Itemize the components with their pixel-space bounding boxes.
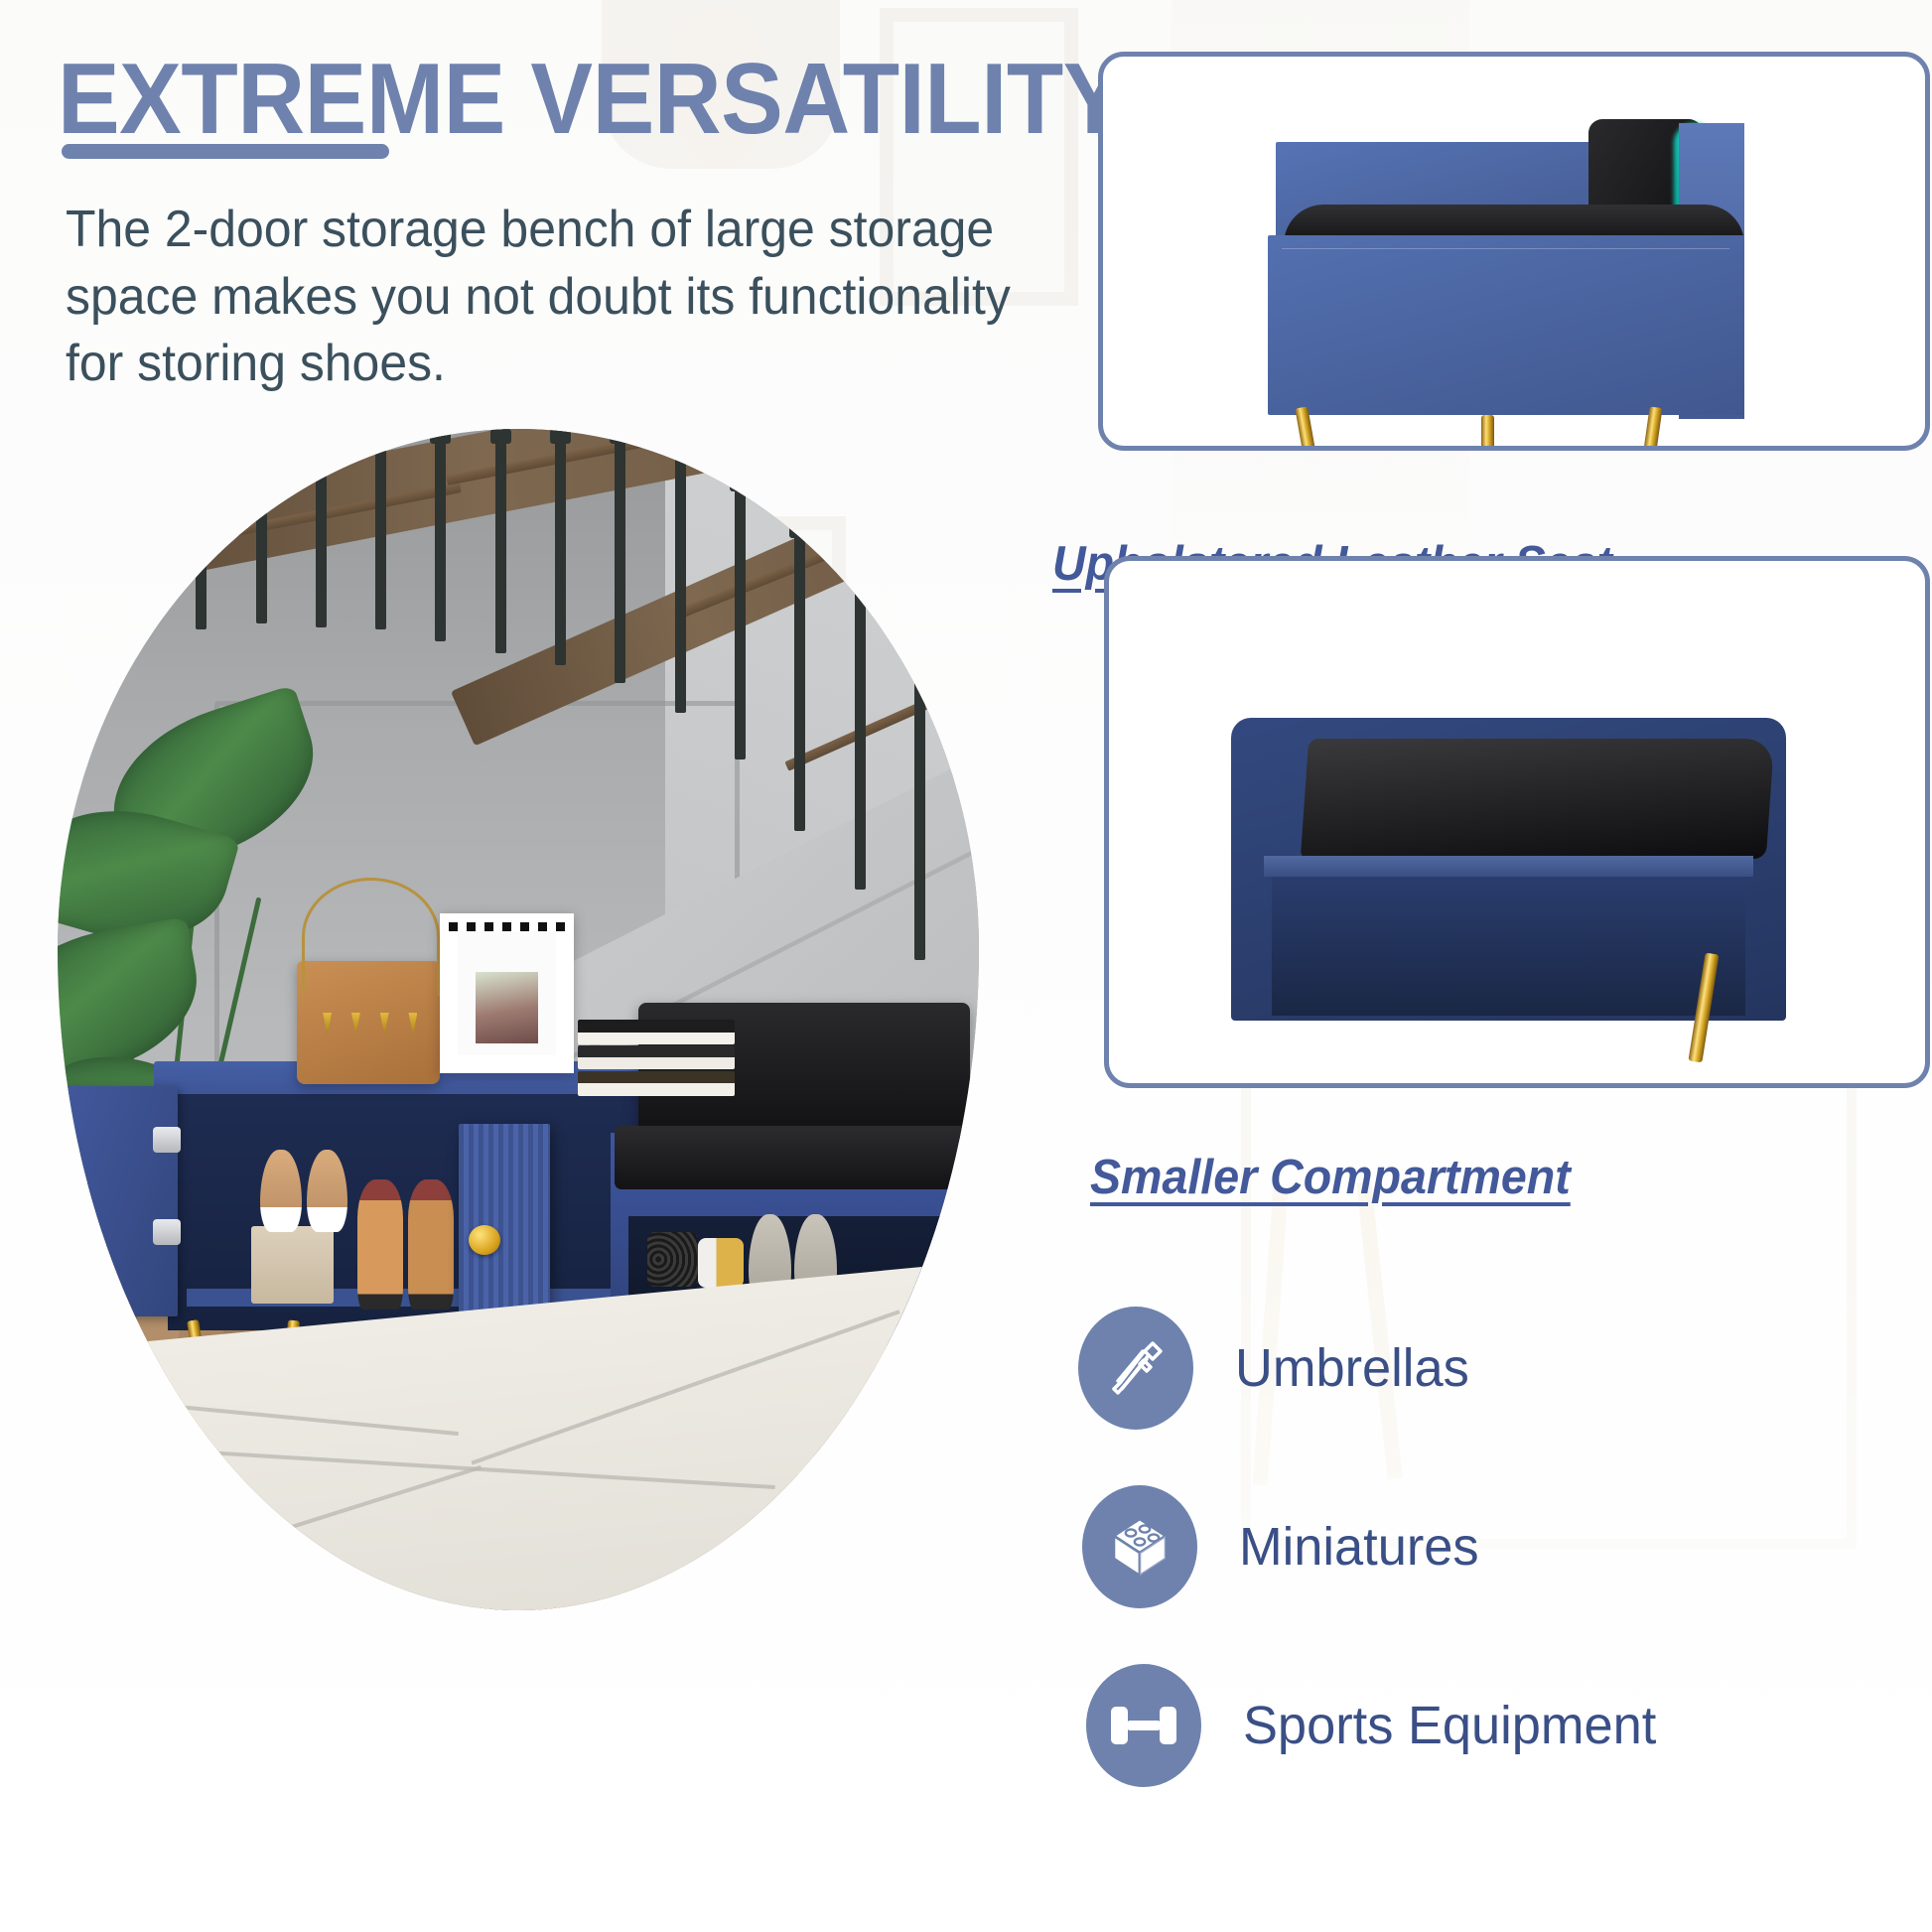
page-title: EXTREME VERSATILITY [58,52,990,148]
bench-drawer-front [1268,235,1744,414]
description-text: The 2-door storage bench of large storag… [66,197,1037,398]
shoe-box [251,1226,335,1303]
stair-baluster [794,523,805,830]
stair-baluster [735,477,746,760]
handbag-stud [380,1013,389,1035]
feature-item-sports-equipment: Sports Equipment [1086,1664,1669,1787]
picture-frame-mat [458,931,556,1055]
book [578,1045,735,1069]
open-compartment [1272,864,1745,1016]
inset-smaller-compartment [1104,556,1930,1088]
umbrella-icon [1078,1307,1193,1430]
main-product-photo [58,429,979,1610]
dumbbell-icon [1086,1664,1201,1787]
entryway-scene [58,429,979,1610]
boot [357,1179,403,1310]
bench-seat-cushion [615,1126,969,1189]
feature-item-umbrellas: Umbrellas [1078,1307,1476,1430]
promo-banner: EXTREME VERSATILITY The 2-door storage b… [0,0,1932,1932]
left-cabinet-door [63,1086,178,1316]
handbag-stud [408,1013,417,1035]
toy-block-icon [1082,1485,1197,1608]
door-knob [469,1225,500,1255]
bench-gold-leg [1481,415,1494,449]
caption-smaller-compartment: Smaller Compartment [1090,1150,1571,1205]
rug-pattern-line [58,1382,458,1436]
stair-baluster [435,429,446,641]
book [578,1071,735,1097]
title-underline-rule [62,144,389,159]
handbag-stud [351,1013,360,1035]
stair-baluster [914,629,925,960]
leather-seat-cushion [1301,739,1774,859]
framed-photo [476,972,538,1043]
door-hinge [153,1127,181,1153]
boot [408,1179,454,1310]
feature-item-miniatures: Miniatures [1082,1485,1486,1608]
door-hinge [153,1219,181,1245]
stair-baluster [855,571,866,890]
feature-label: Sports Equipment [1243,1695,1656,1756]
rug-pattern-line [218,1451,774,1489]
handbag-stud [323,1013,332,1035]
checkerboard-picture-frame [440,913,574,1073]
compartment-edge [1264,856,1753,877]
stair-baluster [375,429,386,629]
feature-label: Umbrellas [1235,1337,1469,1399]
inset-upholstered-leather-seat [1098,52,1930,451]
stair-baluster [196,488,207,630]
book-stack [578,1020,735,1096]
rug-pattern-line [472,1311,900,1465]
stair-baluster [256,459,267,624]
stair-baluster [675,441,686,713]
handbag-chain-strap [302,878,440,996]
stair-baluster [615,429,625,683]
feature-label: Miniatures [1239,1516,1479,1578]
rolled-umbrella-2 [698,1238,744,1288]
stair-baluster [495,429,506,653]
book [578,1020,735,1044]
stair-baluster [316,439,327,627]
stair-baluster [555,429,566,665]
rolled-umbrella [647,1232,698,1287]
